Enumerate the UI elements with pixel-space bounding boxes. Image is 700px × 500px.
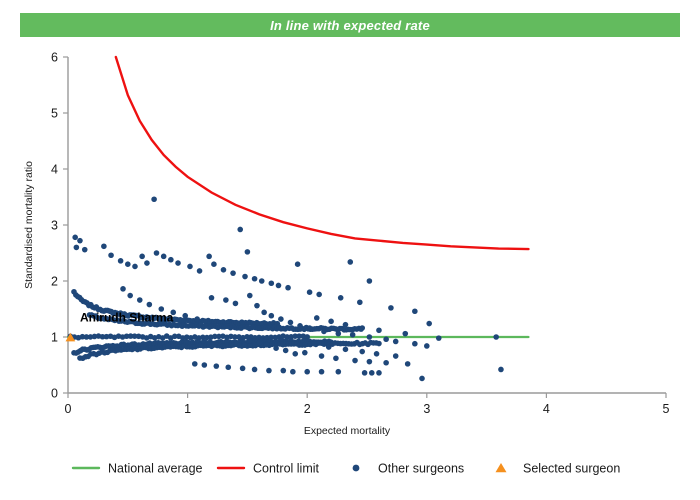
data-point	[367, 359, 373, 365]
data-point	[374, 351, 380, 357]
data-point	[338, 295, 344, 301]
data-point	[290, 369, 296, 375]
legend-label: Selected surgeon	[523, 462, 620, 476]
data-point	[252, 276, 258, 282]
data-point	[369, 370, 375, 376]
data-point	[376, 327, 382, 333]
data-point	[352, 358, 358, 364]
axes-group: 0123456012345Expected mortalityStandardi…	[23, 51, 670, 438]
data-point	[276, 283, 282, 289]
y-tick-label: 5	[51, 107, 58, 121]
data-point	[493, 334, 499, 340]
data-point	[254, 303, 260, 309]
data-point	[77, 238, 83, 244]
data-point	[257, 340, 263, 346]
data-point	[132, 264, 138, 270]
legend-item-control-limit[interactable]: Control limit	[218, 462, 320, 476]
triangle-marker-orange	[496, 463, 507, 472]
data-point	[326, 344, 332, 350]
data-point	[259, 278, 265, 284]
data-point	[436, 335, 442, 341]
data-point	[108, 252, 114, 258]
data-point	[82, 247, 88, 253]
data-point	[312, 341, 318, 347]
series-line-control-limit	[116, 57, 529, 249]
data-point	[319, 369, 325, 375]
funnel-plot-svg: 0123456012345Expected mortalityStandardi…	[0, 0, 700, 500]
data-point	[343, 322, 349, 328]
data-point	[261, 310, 267, 316]
data-point	[307, 289, 313, 295]
data-point	[288, 320, 294, 326]
data-point	[343, 347, 349, 353]
data-point	[151, 196, 157, 202]
data-point	[278, 316, 284, 322]
data-point	[154, 250, 160, 256]
annotations-group: Anirudh Sharma	[80, 310, 174, 324]
data-point	[211, 261, 217, 267]
data-point	[336, 331, 342, 337]
data-point	[225, 364, 231, 370]
data-point	[202, 362, 208, 368]
x-tick-label: 3	[423, 402, 430, 416]
data-point	[302, 350, 308, 356]
funnel-plot-container: 0123456012345Expected mortalityStandardi…	[0, 0, 700, 500]
data-point	[336, 369, 342, 375]
data-point	[316, 292, 322, 298]
x-tick-label: 4	[543, 402, 550, 416]
legend-label: Control limit	[253, 462, 320, 476]
data-point	[147, 302, 153, 308]
data-point	[328, 319, 334, 325]
data-point	[393, 339, 399, 345]
data-point	[264, 342, 270, 348]
data-point	[295, 261, 301, 267]
data-point	[424, 343, 430, 349]
data-point	[245, 249, 251, 255]
data-point	[266, 368, 272, 374]
data-point	[237, 335, 243, 341]
data-point	[383, 360, 389, 366]
x-axis-title: Expected mortality	[304, 425, 391, 437]
data-point	[383, 336, 389, 342]
data-point	[426, 321, 432, 327]
data-point	[297, 323, 303, 329]
data-point	[280, 368, 286, 374]
data-point	[72, 235, 78, 241]
data-point	[412, 308, 418, 314]
x-tick-label: 5	[663, 402, 670, 416]
selected-surgeon-label: Anirudh Sharma	[80, 310, 174, 324]
data-point	[233, 301, 239, 307]
data-point	[209, 295, 215, 301]
data-point	[252, 367, 258, 373]
data-point	[139, 254, 145, 260]
y-tick-label: 1	[51, 331, 58, 345]
data-point	[273, 345, 279, 351]
data-point	[292, 351, 298, 357]
data-point	[333, 355, 339, 361]
data-point	[405, 361, 411, 367]
data-point	[402, 331, 408, 337]
data-point	[357, 299, 363, 305]
data-point	[101, 243, 107, 249]
x-tick-label: 2	[304, 402, 311, 416]
data-point	[187, 264, 193, 270]
data-point	[393, 353, 399, 359]
data-point	[221, 267, 227, 273]
data-point	[206, 254, 212, 260]
data-point	[314, 315, 320, 321]
data-point	[319, 353, 325, 359]
data-point	[376, 370, 382, 376]
legend-label: National average	[108, 462, 203, 476]
y-tick-label: 6	[51, 51, 58, 65]
y-tick-label: 4	[51, 163, 58, 177]
data-point	[247, 338, 253, 344]
legend-item-national-average[interactable]: National average	[73, 462, 203, 476]
data-point	[223, 297, 229, 303]
data-point	[285, 285, 291, 291]
data-point	[269, 280, 275, 286]
data-point	[307, 325, 313, 331]
legend-item-other-surgeons[interactable]: Other surgeons	[353, 462, 465, 476]
data-point	[120, 286, 126, 292]
data-point	[192, 361, 198, 367]
data-point	[362, 370, 368, 376]
legend-group: National averageControl limitOther surge…	[73, 462, 620, 476]
data-point	[127, 293, 133, 299]
data-point	[412, 341, 418, 347]
series-other-surgeons	[68, 196, 504, 381]
data-point	[125, 261, 131, 267]
data-point	[182, 313, 188, 319]
data-point	[359, 325, 365, 331]
data-point	[74, 245, 80, 251]
x-tick-label: 0	[65, 402, 72, 416]
y-axis-title: Standardised mortality ratio	[23, 161, 35, 289]
data-point	[237, 227, 243, 233]
dot-marker-navy	[353, 465, 360, 472]
data-group	[66, 57, 529, 381]
data-point	[194, 316, 200, 322]
data-point	[242, 274, 248, 280]
data-point	[240, 366, 246, 372]
data-point	[350, 332, 356, 338]
data-point	[197, 268, 203, 274]
data-point	[367, 334, 373, 340]
data-point	[283, 348, 289, 354]
data-point	[419, 376, 425, 382]
y-tick-label: 3	[51, 219, 58, 233]
data-point	[376, 341, 382, 347]
data-point	[498, 367, 504, 373]
data-point	[214, 363, 220, 369]
y-tick-label: 0	[51, 387, 58, 401]
data-point	[230, 270, 236, 276]
data-point	[359, 349, 365, 355]
data-point	[247, 293, 253, 299]
x-tick-label: 1	[184, 402, 191, 416]
data-point	[367, 278, 373, 284]
y-tick-label: 2	[51, 275, 58, 289]
data-point	[347, 259, 353, 265]
data-point	[304, 369, 310, 375]
data-point	[168, 257, 174, 263]
data-point	[388, 305, 394, 311]
data-point	[321, 329, 327, 335]
data-point	[118, 258, 124, 264]
legend-item-selected-surgeon[interactable]: Selected surgeon	[496, 462, 621, 476]
data-point	[161, 254, 167, 260]
data-point	[144, 260, 150, 266]
data-point	[269, 313, 275, 319]
legend-label: Other surgeons	[378, 462, 464, 476]
data-point	[175, 260, 181, 266]
data-point	[137, 297, 143, 303]
